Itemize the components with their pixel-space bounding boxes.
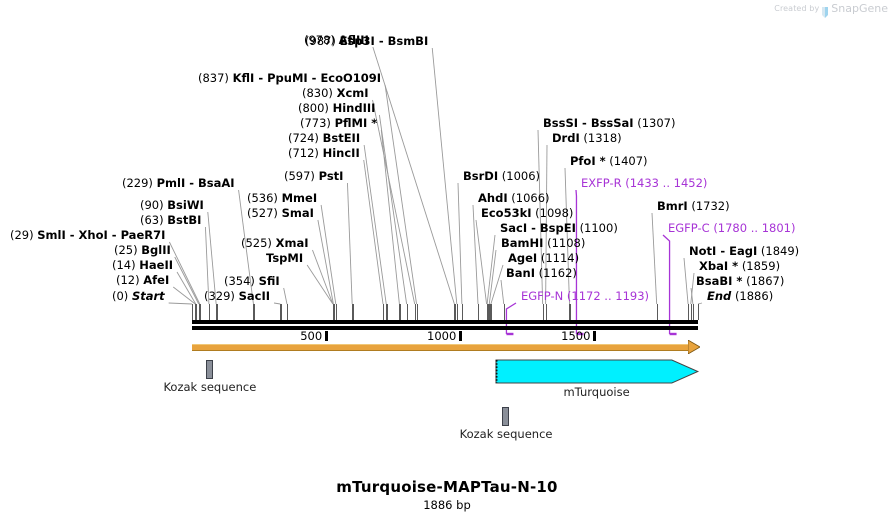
enzyme-name[interactable]: EGFP-C	[668, 221, 710, 235]
ruler-tick-mark	[593, 331, 596, 341]
enzyme-name[interactable]: PfoI *	[570, 154, 606, 168]
restriction-site-label[interactable]: BsrDI (1006)	[463, 170, 540, 183]
enzyme-name[interactable]: EagI	[729, 244, 757, 258]
site-position: (1066)	[511, 191, 549, 205]
site-position: (1433 .. 1452)	[625, 176, 707, 190]
restriction-site-label[interactable]: (597) PstI	[284, 170, 343, 183]
restriction-site-tick	[383, 304, 384, 320]
site-position: (0)	[112, 289, 128, 303]
site-position: (1307)	[637, 116, 675, 130]
restriction-site-label[interactable]: BsaBI * (1867)	[696, 275, 784, 288]
site-position: (90)	[140, 198, 164, 212]
restriction-site-label[interactable]: PfoI * (1407)	[570, 155, 648, 168]
ruler-tick-mark	[325, 331, 328, 341]
restriction-site-label[interactable]: BmrI (1732)	[657, 200, 730, 213]
restriction-site-label[interactable]: EXFP-R (1433 .. 1452)	[581, 177, 707, 190]
enzyme-name[interactable]: SacI	[500, 221, 527, 235]
restriction-site-tick	[693, 304, 694, 320]
name-separator: -	[578, 116, 591, 130]
name-separator: -	[527, 221, 540, 235]
enzyme-name[interactable]: BanI	[506, 266, 535, 280]
site-position: (1108)	[547, 236, 585, 250]
enzyme-name[interactable]: AgeI	[508, 251, 537, 265]
plasmid-map-canvas: Created by SnapGene (29) SmlI - XhoI - P…	[0, 0, 894, 518]
name-separator: -	[66, 228, 79, 242]
site-position: (1318)	[583, 131, 621, 145]
restriction-site-label[interactable]: Eco53kI (1098)	[481, 207, 573, 220]
restriction-site-tick	[454, 304, 455, 320]
enzyme-name[interactable]: BsaAI	[198, 176, 235, 190]
enzyme-name[interactable]: HaeII	[139, 258, 173, 272]
restriction-site-tick	[287, 304, 288, 320]
site-position: (1886)	[735, 289, 773, 303]
enzyme-name[interactable]: BssSaI	[591, 116, 634, 130]
restriction-site-label[interactable]: BamHI (1108)	[501, 237, 585, 250]
backbone-line-top	[192, 320, 698, 324]
restriction-site-tick	[407, 304, 408, 320]
site-position: (830)	[302, 86, 333, 100]
enzyme-name[interactable]: SacII	[239, 289, 270, 303]
site-position: (527)	[247, 206, 278, 220]
site-position: (525)	[241, 236, 272, 250]
enzyme-name[interactable]: PaeR7I	[121, 228, 166, 242]
site-position: (1859)	[742, 259, 780, 273]
enzyme-name[interactable]: End	[707, 289, 731, 303]
site-position: (1162)	[539, 266, 577, 280]
site-position: (229)	[122, 176, 153, 190]
restriction-site-tick	[417, 304, 418, 320]
restriction-site-tick	[399, 304, 400, 320]
site-position: (14)	[112, 258, 136, 272]
restriction-site-label[interactable]: BanI (1162)	[506, 267, 577, 280]
enzyme-name[interactable]: Start	[132, 289, 165, 303]
enzyme-name[interactable]: BsrDI	[463, 169, 498, 183]
enzyme-name[interactable]: BamHI	[501, 236, 543, 250]
snapgene-watermark: Created by SnapGene	[774, 1, 888, 15]
enzyme-name[interactable]: HincII	[323, 146, 360, 160]
enzyme-name[interactable]: EGFP-N	[521, 289, 563, 303]
site-position: (712)	[288, 146, 319, 160]
site-position: (536)	[247, 191, 278, 205]
enzyme-name[interactable]: BstBI	[167, 213, 201, 227]
restriction-site-tick	[200, 304, 201, 320]
restriction-site-label[interactable]: (830) XcmI	[302, 87, 369, 100]
restriction-site-tick	[192, 304, 193, 320]
restriction-site-label[interactable]: (12) AfeI	[116, 274, 169, 287]
site-position: (1849)	[761, 244, 799, 258]
enzyme-name[interactable]: XbaI *	[699, 259, 738, 273]
restriction-site-label[interactable]: (29) SmlI - XhoI - PaeR7I	[10, 229, 165, 242]
watermark-prefix: Created by	[774, 4, 819, 13]
name-separator: -	[185, 176, 198, 190]
restriction-site-label[interactable]: TspMI	[266, 252, 303, 265]
ruler-tick-label: 1500	[560, 329, 590, 343]
site-position: (724)	[288, 131, 319, 145]
restriction-site-tick	[698, 304, 699, 320]
enzyme-name[interactable]: PflMI *	[335, 116, 378, 130]
feature-orf-arrow	[192, 344, 690, 351]
restriction-site-label[interactable]: AhdI (1066)	[478, 192, 550, 205]
enzyme-name[interactable]: AfeI	[143, 273, 169, 287]
site-position: (1006)	[502, 169, 540, 183]
restriction-site-tick	[216, 304, 217, 320]
site-position: (1407)	[609, 154, 647, 168]
site-position: (329)	[204, 289, 235, 303]
restriction-site-label[interactable]: DrdI (1318)	[552, 132, 622, 145]
restriction-site-label[interactable]: (536) MmeI	[247, 192, 317, 205]
feature-kozak-block	[206, 360, 213, 379]
enzyme-name[interactable]: EcoO109I	[320, 71, 381, 85]
site-position: (1114)	[541, 251, 579, 265]
site-position: (354)	[224, 274, 255, 288]
site-position: (987)	[305, 34, 336, 48]
feature-caption: Kozak sequence	[145, 380, 275, 394]
restriction-site-label[interactable]: XbaI * (1859)	[699, 260, 780, 273]
site-position: (1100)	[580, 221, 618, 235]
restriction-site-label[interactable]: (229) PmlI - BsaAI	[122, 177, 235, 190]
restriction-site-tick	[504, 304, 505, 320]
watermark-brand: SnapGene	[831, 2, 888, 15]
enzyme-name[interactable]: BsiWI	[167, 198, 204, 212]
enzyme-name[interactable]: XmaI	[276, 236, 309, 250]
site-position: (1732)	[691, 199, 729, 213]
enzyme-name[interactable]: MmeI	[282, 191, 318, 205]
restriction-site-label[interactable]: SacI - BspEI (1100)	[500, 222, 618, 235]
restriction-site-tick	[280, 304, 281, 320]
restriction-site-label[interactable]: (90) BsiWI	[140, 199, 204, 212]
name-separator: -	[375, 34, 388, 48]
site-position: (25)	[114, 243, 138, 257]
feature-caption: Kozak sequence	[441, 427, 571, 441]
restriction-site-tick	[569, 304, 570, 320]
restriction-site-label[interactable]: (329) SacII	[204, 290, 270, 303]
site-position: (1098)	[535, 206, 573, 220]
enzyme-name[interactable]: BsaBI *	[696, 274, 742, 288]
restriction-site-tick	[386, 304, 387, 320]
enzyme-name[interactable]: BstEII	[323, 131, 361, 145]
enzyme-name[interactable]: SmlI	[37, 228, 66, 242]
feature-caption: mTurquoise	[495, 385, 698, 399]
map-title-block: mTurquoise-MAPTau-N-10 1886 bp	[0, 478, 894, 512]
enzyme-name[interactable]: HindIII	[333, 101, 376, 115]
site-position: (597)	[284, 169, 315, 183]
site-position: (12)	[116, 273, 140, 287]
site-position: (1867)	[746, 274, 784, 288]
restriction-site-label[interactable]: NotI - EagI (1849)	[689, 245, 799, 258]
restriction-site-tick	[457, 304, 458, 320]
site-position: (1780 .. 1801)	[713, 221, 795, 235]
site-position: (63)	[140, 213, 164, 227]
restriction-site-tick	[546, 304, 547, 320]
enzyme-name[interactable]: PpuMI	[267, 71, 308, 85]
page-title: mTurquoise-MAPTau-N-10	[0, 478, 894, 496]
site-position: (1172 .. 1193)	[567, 289, 649, 303]
enzyme-name[interactable]: DrdI	[552, 131, 580, 145]
site-position: (800)	[298, 101, 329, 115]
enzyme-name[interactable]: BglII	[141, 243, 171, 257]
restriction-site-label[interactable]: (773) PflMI *	[300, 117, 377, 130]
enzyme-name[interactable]: BssSI	[543, 116, 578, 130]
enzyme-name[interactable]: BmrI	[657, 199, 688, 213]
enzyme-name[interactable]: XcmI	[337, 86, 369, 100]
enzyme-name[interactable]: BsmBI	[388, 34, 429, 48]
enzyme-name[interactable]: SmaI	[282, 206, 314, 220]
enzyme-name[interactable]: TspMI	[266, 251, 303, 265]
restriction-site-label[interactable]: End (1886)	[707, 290, 773, 303]
enzyme-name[interactable]: KflI	[233, 71, 255, 85]
name-separator: -	[108, 228, 121, 242]
name-separator: -	[254, 71, 267, 85]
enzyme-name[interactable]: Eco53kI	[481, 206, 532, 220]
enzyme-name[interactable]: Esp3I	[340, 34, 375, 48]
enzyme-name[interactable]: SfiI	[259, 274, 280, 288]
enzyme-name[interactable]: PmlI	[157, 176, 186, 190]
restriction-site-tick	[253, 304, 254, 320]
enzyme-name[interactable]: NotI	[689, 244, 716, 258]
enzyme-name[interactable]: BspEI	[540, 221, 576, 235]
map-size-label: 1886 bp	[0, 498, 894, 512]
site-position: (773)	[300, 116, 331, 130]
snapgene-logo-icon	[822, 3, 828, 14]
restriction-site-tick	[196, 304, 197, 320]
restriction-site-label[interactable]: (800) HindIII	[298, 102, 375, 115]
restriction-site-label[interactable]: BssSI - BssSaI (1307)	[543, 117, 676, 130]
restriction-site-label[interactable]: (712) HincII	[288, 147, 360, 160]
restriction-site-tick	[688, 304, 689, 320]
restriction-site-tick	[333, 304, 334, 320]
feature-mturquoise-arrow	[495, 358, 700, 385]
enzyme-name[interactable]: PstI	[319, 169, 344, 183]
enzyme-name[interactable]: XhoI	[79, 228, 108, 242]
ruler-tick-label: 500	[292, 329, 322, 343]
restriction-site-label[interactable]: AgeI (1114)	[508, 252, 579, 265]
restriction-site-tick	[336, 304, 337, 320]
feature-orf-arrowhead	[688, 340, 700, 354]
restriction-site-tick	[478, 304, 479, 320]
name-separator: -	[308, 71, 321, 85]
restriction-site-label[interactable]: EGFP-N (1172 .. 1193)	[521, 290, 649, 303]
restriction-site-label[interactable]: (724) BstEII	[288, 132, 360, 145]
restriction-site-label[interactable]: (837) KflI - PpuMI - EcoO109I	[198, 72, 381, 85]
restriction-site-label[interactable]: (0) Start	[112, 290, 165, 303]
restriction-site-label[interactable]: (14) HaeII	[112, 259, 173, 272]
name-separator: -	[716, 244, 729, 258]
ruler-tick-mark	[459, 331, 462, 341]
enzyme-name[interactable]: AhdI	[478, 191, 508, 205]
restriction-site-tick	[352, 304, 353, 320]
restriction-site-tick	[462, 304, 463, 320]
restriction-site-label[interactable]: (354) SfiI	[224, 275, 280, 288]
restriction-site-label[interactable]: (527) SmaI	[247, 207, 314, 220]
enzyme-name[interactable]: EXFP-R	[581, 176, 622, 190]
restriction-site-label[interactable]: (525) XmaI	[241, 237, 308, 250]
restriction-site-tick	[657, 304, 658, 320]
feature-kozak-block	[502, 407, 509, 426]
restriction-site-tick	[543, 304, 544, 320]
ruler-tick-label: 1000	[426, 329, 456, 343]
restriction-site-tick	[209, 304, 210, 320]
site-position: (29)	[10, 228, 34, 242]
restriction-site-label[interactable]: (25) BglII	[114, 244, 171, 257]
restriction-site-label[interactable]: (987) Esp3I - BsmBI	[305, 35, 428, 48]
restriction-site-label[interactable]: (63) BstBI	[140, 214, 201, 227]
restriction-site-label[interactable]: EGFP-C (1780 .. 1801)	[668, 222, 795, 235]
restriction-site-tick	[491, 304, 492, 320]
site-position: (837)	[198, 71, 229, 85]
